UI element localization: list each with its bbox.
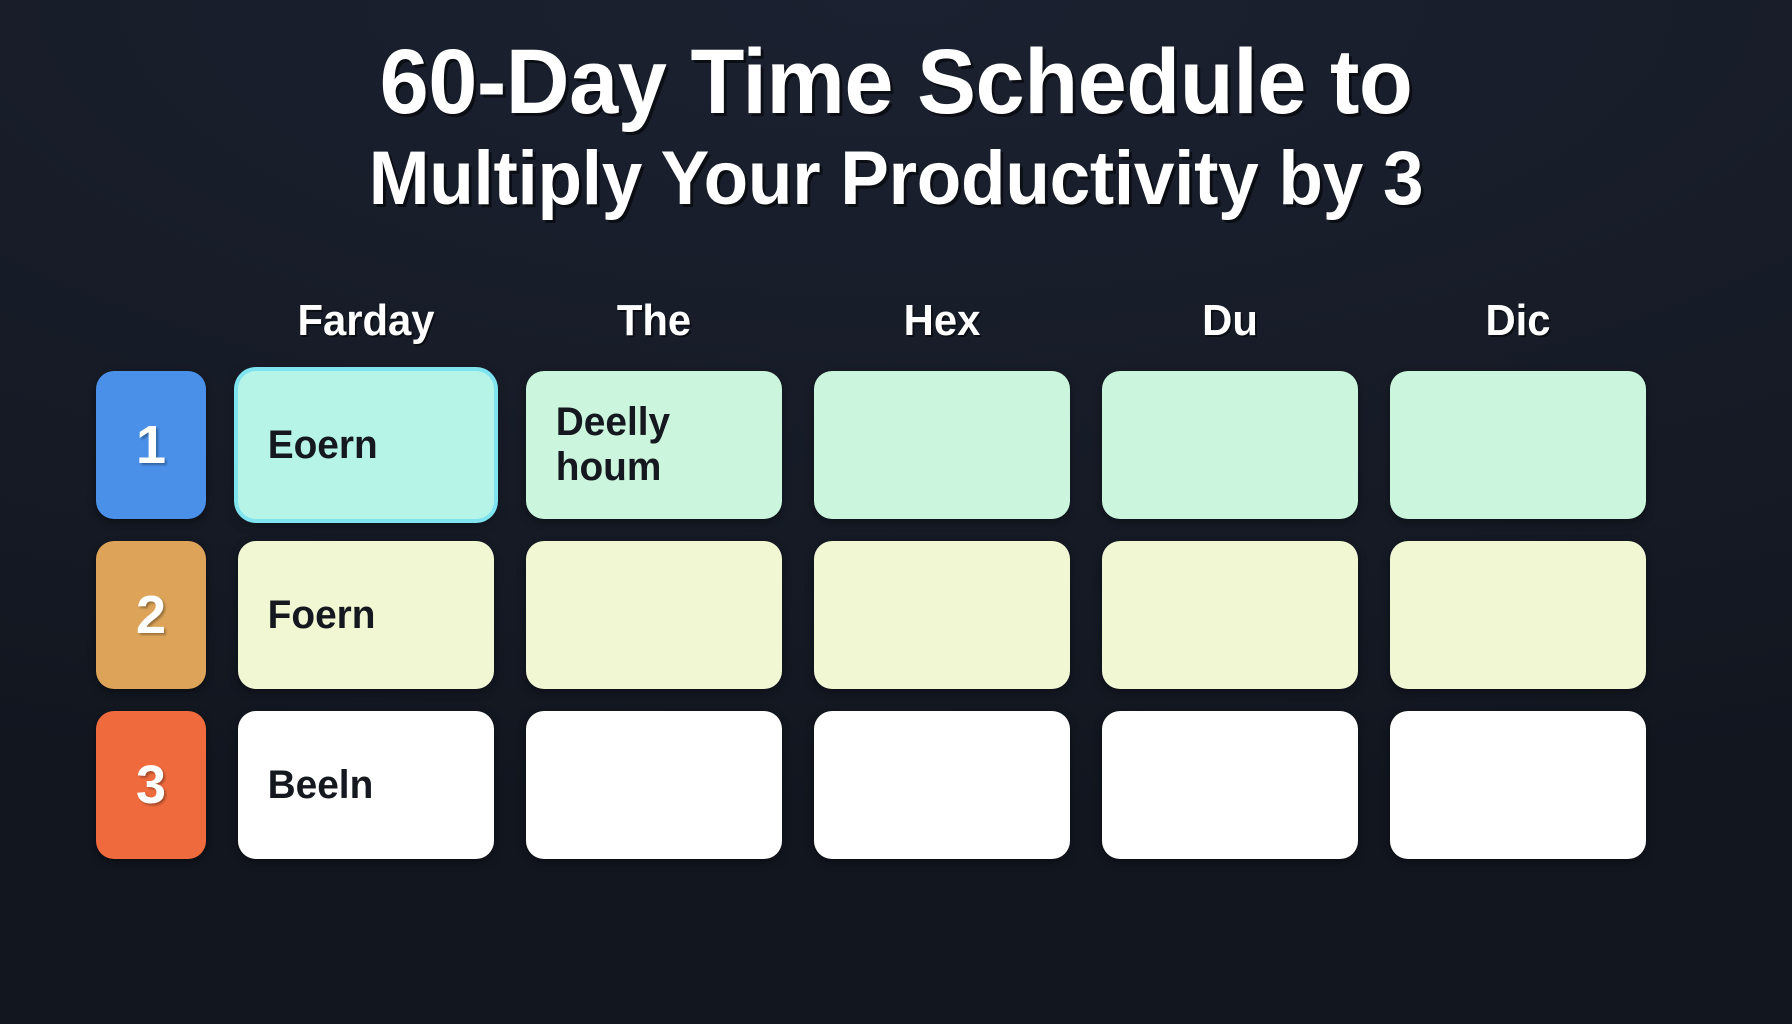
schedule-cell[interactable] [526,711,782,859]
page-title-line-1: 60-Day Time Schedule to [36,36,1756,130]
column-header-farday: Farday [244,299,487,345]
row-number-badge[interactable]: 1 [96,371,206,519]
row-number-badge[interactable]: 2 [96,541,206,689]
schedule-cell[interactable]: Foern [238,541,494,689]
schedule-table: Farday The Hex Du Dic 1 Eoern Deelly hou… [96,283,1704,881]
schedule-cell[interactable] [1102,711,1358,859]
table-body: 1 Eoern Deelly houm 2 [96,371,1704,859]
schedule-cell[interactable]: Eoern [238,371,494,519]
schedule-cell[interactable] [814,711,1070,859]
schedule-cell[interactable] [1390,371,1646,519]
table-row: 1 Eoern Deelly houm [96,371,1704,519]
schedule-cell[interactable] [814,371,1070,519]
title-block: 60-Day Time Schedule to Multiply Your Pr… [0,0,1792,220]
table-row: 3 Beeln [96,711,1704,859]
schedule-cell-text: Eoern [268,423,378,468]
table-row: 2 Foern [96,541,1704,689]
page-title-line-2: Multiply Your Productivity by 3 [36,138,1756,220]
schedule-cell[interactable] [1390,711,1646,859]
row-number-badge[interactable]: 3 [96,711,206,859]
schedule-cell-text: Deelly houm [556,400,670,490]
schedule-cell[interactable]: Deelly houm [526,371,782,519]
column-header-dic: Dic [1396,299,1639,345]
schedule-cell[interactable] [814,541,1070,689]
column-header-the: The [532,299,775,345]
schedule-cell[interactable] [1390,541,1646,689]
schedule-cell[interactable]: Beeln [238,711,494,859]
schedule-cell[interactable] [526,541,782,689]
schedule-cell-text: Beeln [268,763,374,808]
schedule-cell-text: Foern [268,593,376,638]
column-header-du: Du [1108,299,1351,345]
schedule-cell[interactable] [1102,541,1358,689]
schedule-poster: 60-Day Time Schedule to Multiply Your Pr… [0,0,1792,1024]
schedule-cell[interactable] [1102,371,1358,519]
column-header-hex: Hex [820,299,1063,345]
table-header-row: Farday The Hex Du Dic [96,283,1704,345]
